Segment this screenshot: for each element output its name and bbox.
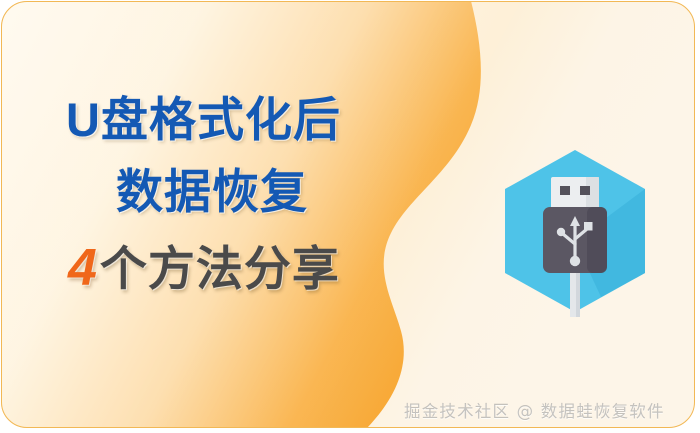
headline-line-3: 4个方法分享 [68, 242, 341, 294]
usb-flash-drive-icon [489, 145, 661, 317]
usb-connector-slot-right [580, 186, 590, 195]
watermark-text: 掘金技术社区 @ 数据蛙恢复软件 [404, 398, 665, 422]
headline-line-3-text: 个方法分享 [100, 242, 340, 295]
headline-line-2: 数据恢复 [116, 168, 341, 215]
headline-block: U盘格式化后 数据恢复 4个方法分享 [58, 96, 341, 294]
usb-connector-slot-left [560, 186, 570, 195]
usb-hexagon-graphic [489, 145, 661, 317]
usb-body-shade [587, 207, 607, 273]
headline-line-1: U盘格式化后 [66, 96, 341, 143]
headline-number-accent: 4 [68, 239, 100, 297]
poster-banner: U盘格式化后 数据恢复 4个方法分享 [0, 0, 700, 433]
